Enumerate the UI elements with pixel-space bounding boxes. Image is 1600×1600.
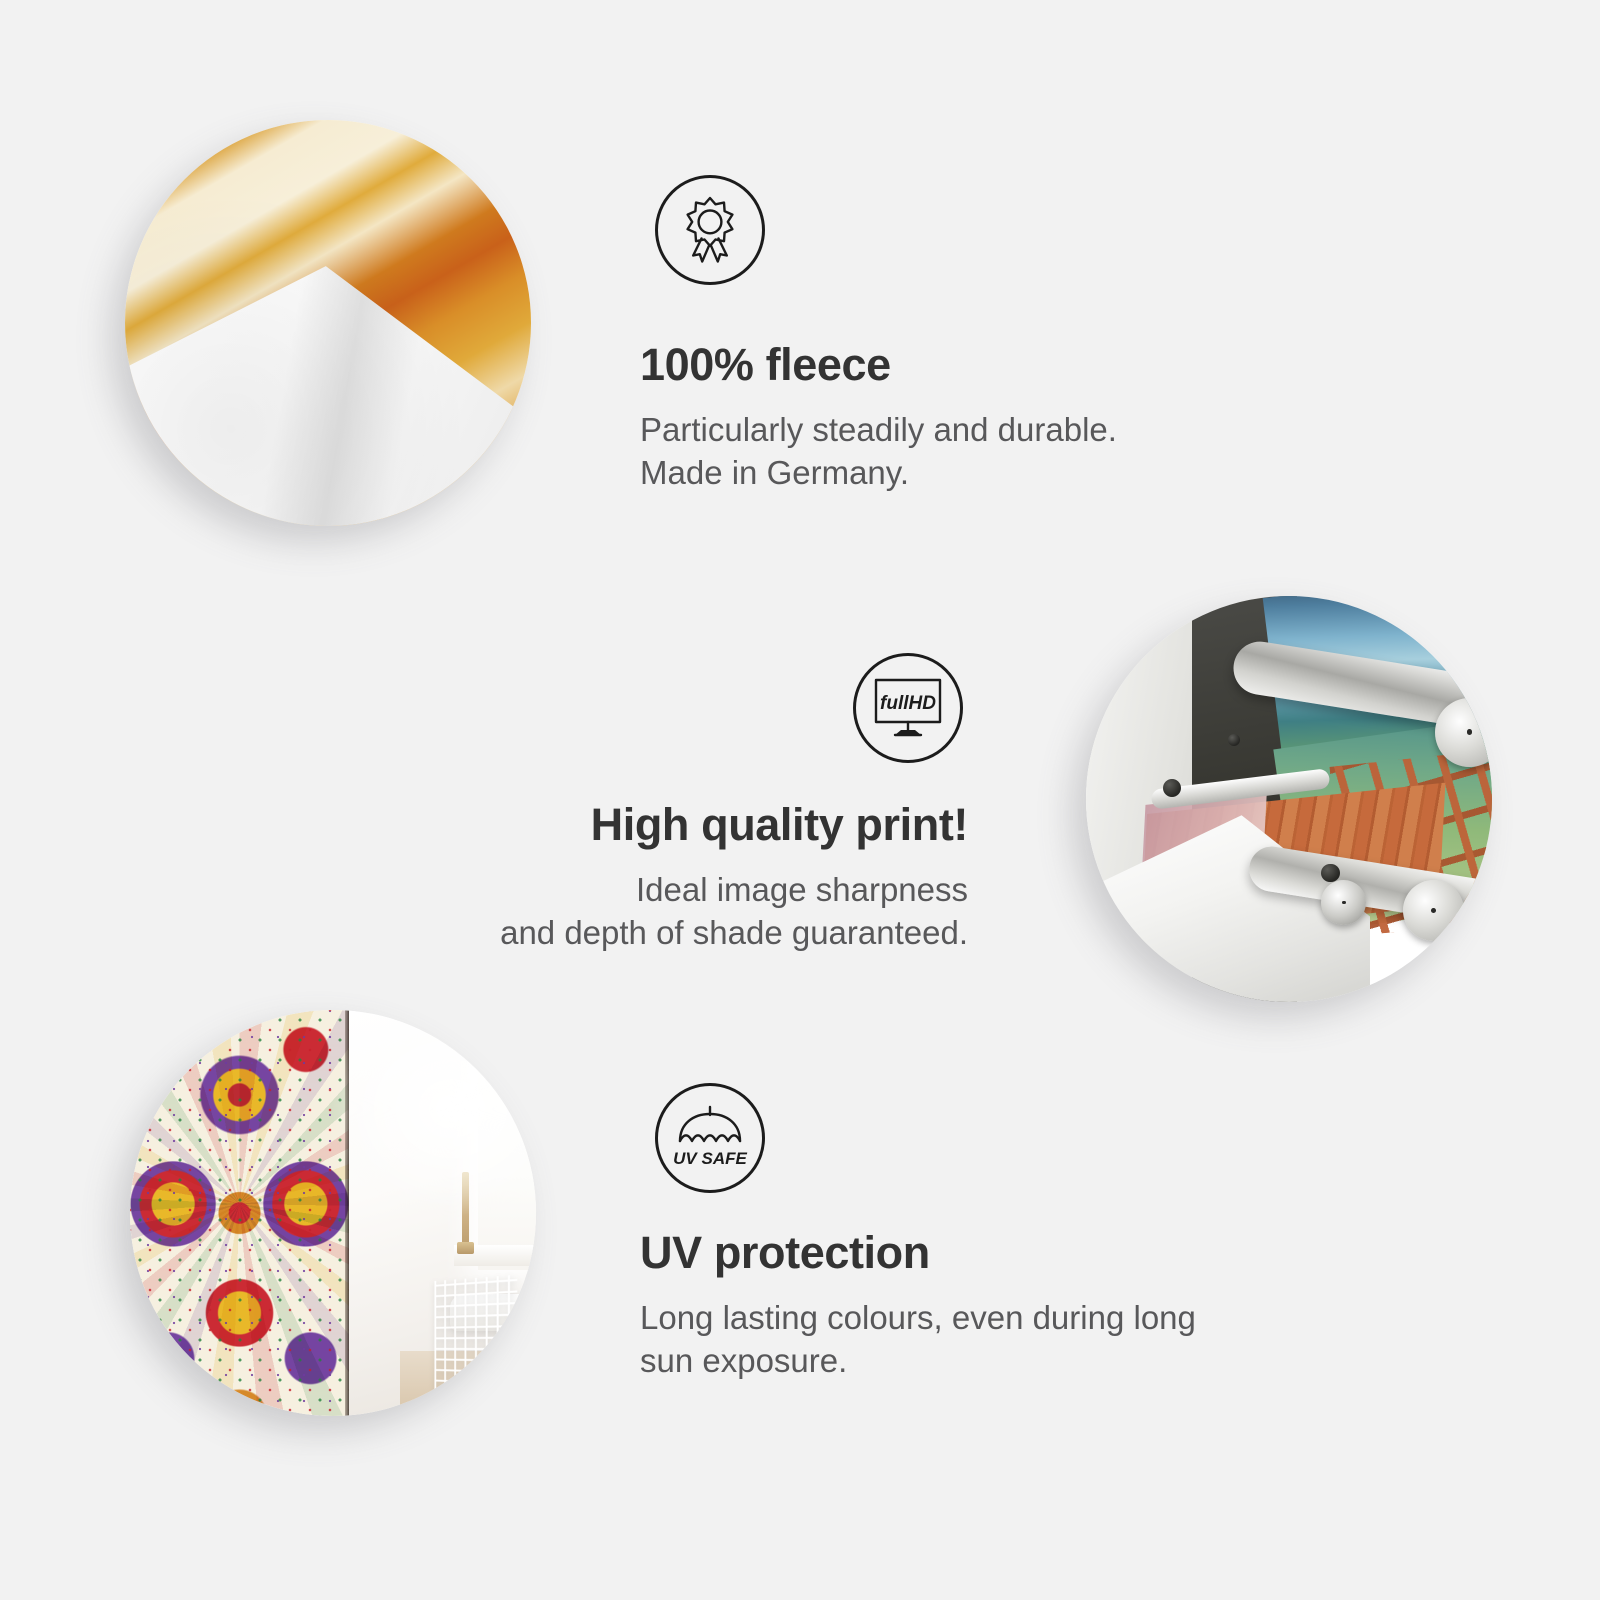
uv-safe-umbrella-icon: UV SAFE — [655, 1083, 765, 1193]
printer-roller-hub-top — [1435, 698, 1492, 767]
fleece-text-block: 100% fleece Particularly steadily and du… — [640, 340, 1117, 495]
fullhd-monitor-icon: fullHD — [853, 653, 963, 763]
fleece-description: Particularly steadily and durable. Made … — [640, 408, 1117, 496]
fullhd-icon-label: fullHD — [880, 693, 936, 714]
wire-chair — [434, 1275, 517, 1416]
mandala-photo-inner — [130, 1010, 536, 1416]
print-text-block: High quality print! Ideal image sharpnes… — [240, 800, 968, 955]
print-description: Ideal image sharpness and depth of shade… — [240, 868, 968, 956]
printer-roller-hub-bottom — [1403, 880, 1464, 941]
uv-safe-umbrella-glyph: UV SAFE — [671, 1103, 749, 1173]
uv-description: Long lasting colours, even during long s… — [640, 1296, 1196, 1384]
room-background — [341, 1010, 536, 1416]
product-feature-infographic: 100% fleece Particularly steadily and du… — [0, 0, 1600, 1600]
uv-title: UV protection — [640, 1228, 1196, 1278]
mandala-dot-overlay — [130, 1010, 349, 1416]
fleece-photo-inner — [125, 120, 531, 526]
room-window — [478, 1034, 536, 1269]
fleece-peel-photo — [125, 120, 531, 526]
print-title: High quality print! — [240, 800, 968, 850]
chair-leg-left — [474, 1389, 479, 1416]
chair-leg-right — [489, 1389, 493, 1416]
uv-text-block: UV protection Long lasting colours, even… — [640, 1228, 1196, 1383]
uv-safe-icon-label: UV SAFE — [673, 1149, 747, 1168]
printer-photo-inner — [1086, 596, 1492, 1002]
printer-knob-center — [1321, 864, 1339, 882]
fleece-shading — [125, 120, 531, 526]
printer-roller-hub-small — [1321, 880, 1366, 925]
fleece-title: 100% fleece — [640, 340, 1117, 390]
award-ribbon-icon — [655, 175, 765, 285]
printer-photo — [1086, 596, 1492, 1002]
mandala-room-photo — [130, 1010, 536, 1416]
award-ribbon-glyph — [677, 195, 743, 265]
mandala-wallpaper-wall — [130, 1010, 349, 1416]
fullhd-monitor-glyph: fullHD — [873, 677, 943, 739]
candlestick — [462, 1172, 469, 1253]
